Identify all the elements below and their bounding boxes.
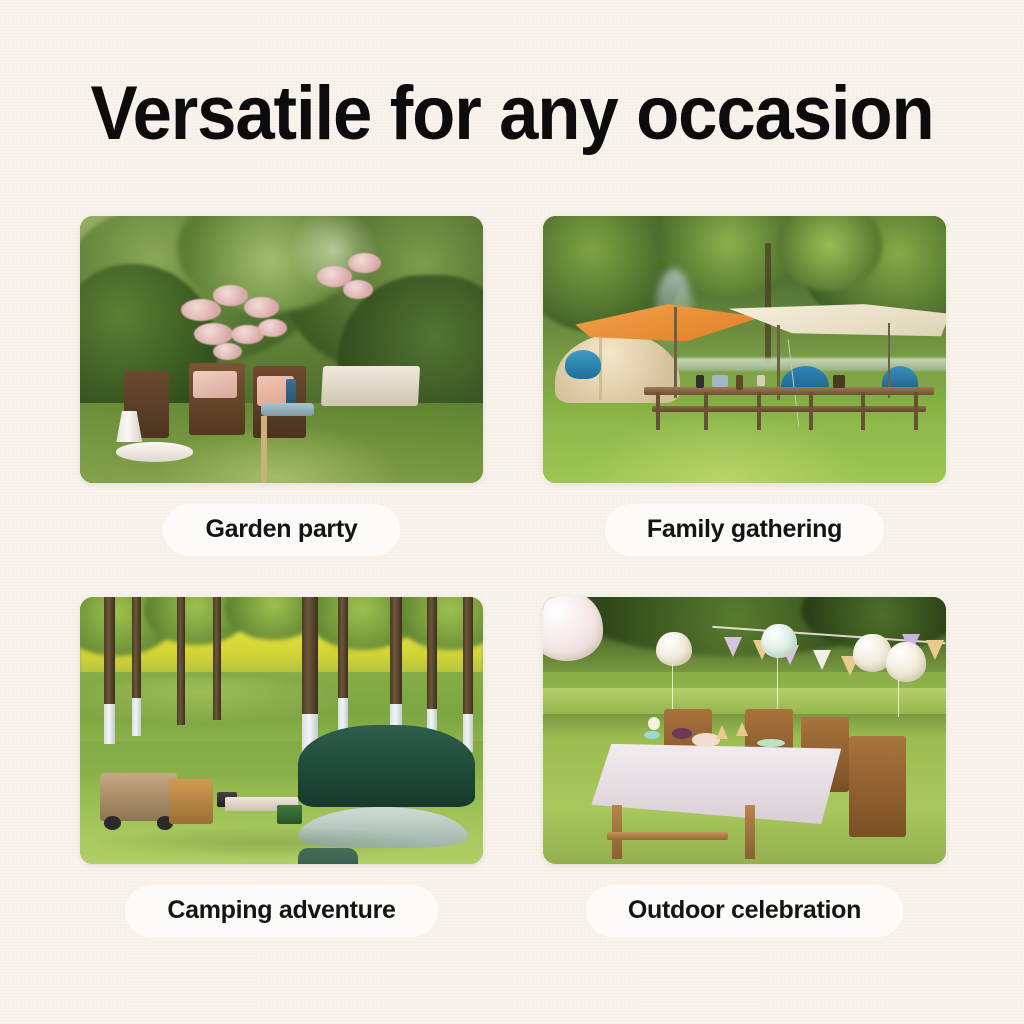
table-leg-right (745, 805, 755, 858)
caption-pill-camping-adventure: Camping adventure (125, 885, 437, 937)
draped-side-table (321, 366, 420, 406)
picnic-bench (652, 406, 926, 412)
green-plate (757, 739, 785, 747)
folding-chair-4 (849, 736, 905, 837)
caption-pill-garden-party: Garden party (163, 504, 399, 556)
grapes (672, 728, 692, 739)
table-stretcher (607, 832, 728, 840)
caption-pill-outdoor-celebration: Outdoor celebration (586, 885, 903, 937)
caption-label: Outdoor celebration (628, 896, 861, 925)
cushion-1 (193, 371, 237, 398)
balloon-string-5 (898, 680, 899, 717)
photo-garden-party[interactable] (80, 216, 483, 483)
occasion-card-outdoor-celebration[interactable]: Outdoor celebration (543, 597, 946, 952)
caption-label: Family gathering (647, 515, 842, 544)
hydrangea-cluster-main (173, 280, 306, 365)
folding-chair (169, 779, 213, 824)
table-item-cooler (712, 375, 728, 387)
table-leg-1 (656, 392, 660, 429)
occasion-card-camping-adventure[interactable]: Camping adventure (80, 597, 483, 952)
table-item-jar (757, 375, 766, 386)
occasion-card-family-gathering[interactable]: Family gathering (543, 216, 946, 571)
trunk-whitewash-2 (132, 698, 141, 735)
bunting-flag-1 (724, 637, 742, 657)
caption-pill-family-gathering: Family gathering (605, 504, 884, 556)
balloon-string-3 (777, 656, 778, 715)
table-item-bottle (736, 375, 742, 390)
balloon-3 (761, 624, 797, 659)
tent-window (565, 350, 601, 379)
lawn-sunlight (583, 414, 865, 483)
table-leg-6 (914, 392, 918, 429)
pedestal-top (116, 442, 193, 461)
wagon-wheel-left (104, 816, 121, 830)
photo-camping-adventure[interactable] (80, 597, 483, 864)
trunk-whitewash-1 (104, 704, 114, 744)
balloon-5 (886, 642, 926, 682)
tree-trunk (765, 243, 771, 363)
canopy-pole-1 (674, 307, 677, 398)
table-item-kettle (696, 375, 704, 388)
photo-family-gathering[interactable] (543, 216, 946, 483)
occasion-card-garden-party[interactable]: Garden party (80, 216, 483, 571)
table-leg-2 (704, 392, 708, 429)
stool-top (261, 403, 313, 417)
bunting-flag-7 (926, 640, 944, 660)
tree-trunk-4 (213, 597, 221, 720)
photo-outdoor-celebration[interactable] (543, 597, 946, 864)
table-leg-4 (809, 392, 813, 429)
tree-trunk-3 (177, 597, 185, 725)
picnic-tabletop (644, 387, 934, 396)
mug-teal (644, 731, 660, 739)
white-pedestal-table (116, 411, 193, 462)
table-leg-3 (757, 392, 761, 429)
seated-person (833, 375, 845, 388)
green-cooler (277, 805, 301, 824)
occasion-grid: Garden party (80, 216, 946, 952)
stool-leg-left (261, 416, 266, 468)
promo-page: Versatile for any occasion (0, 0, 1024, 1024)
party-cone-2 (736, 722, 748, 736)
ground-shadow (96, 827, 435, 859)
green-dome-tent (298, 725, 475, 818)
hydrangea-cluster-upper (314, 251, 395, 304)
pedestal-stem (116, 411, 142, 442)
wooden-stool (261, 403, 313, 464)
caption-label: Camping adventure (167, 896, 395, 925)
bunting-flag-4 (813, 650, 831, 670)
table-leg-5 (861, 392, 865, 429)
folding-wagon (100, 773, 177, 821)
tent-body (298, 725, 475, 807)
stool-leg-mid (261, 468, 266, 483)
page-title: Versatile for any occasion (36, 72, 988, 156)
balloon-2 (656, 632, 692, 667)
party-cone-1 (716, 725, 728, 739)
caption-label: Garden party (205, 515, 357, 544)
